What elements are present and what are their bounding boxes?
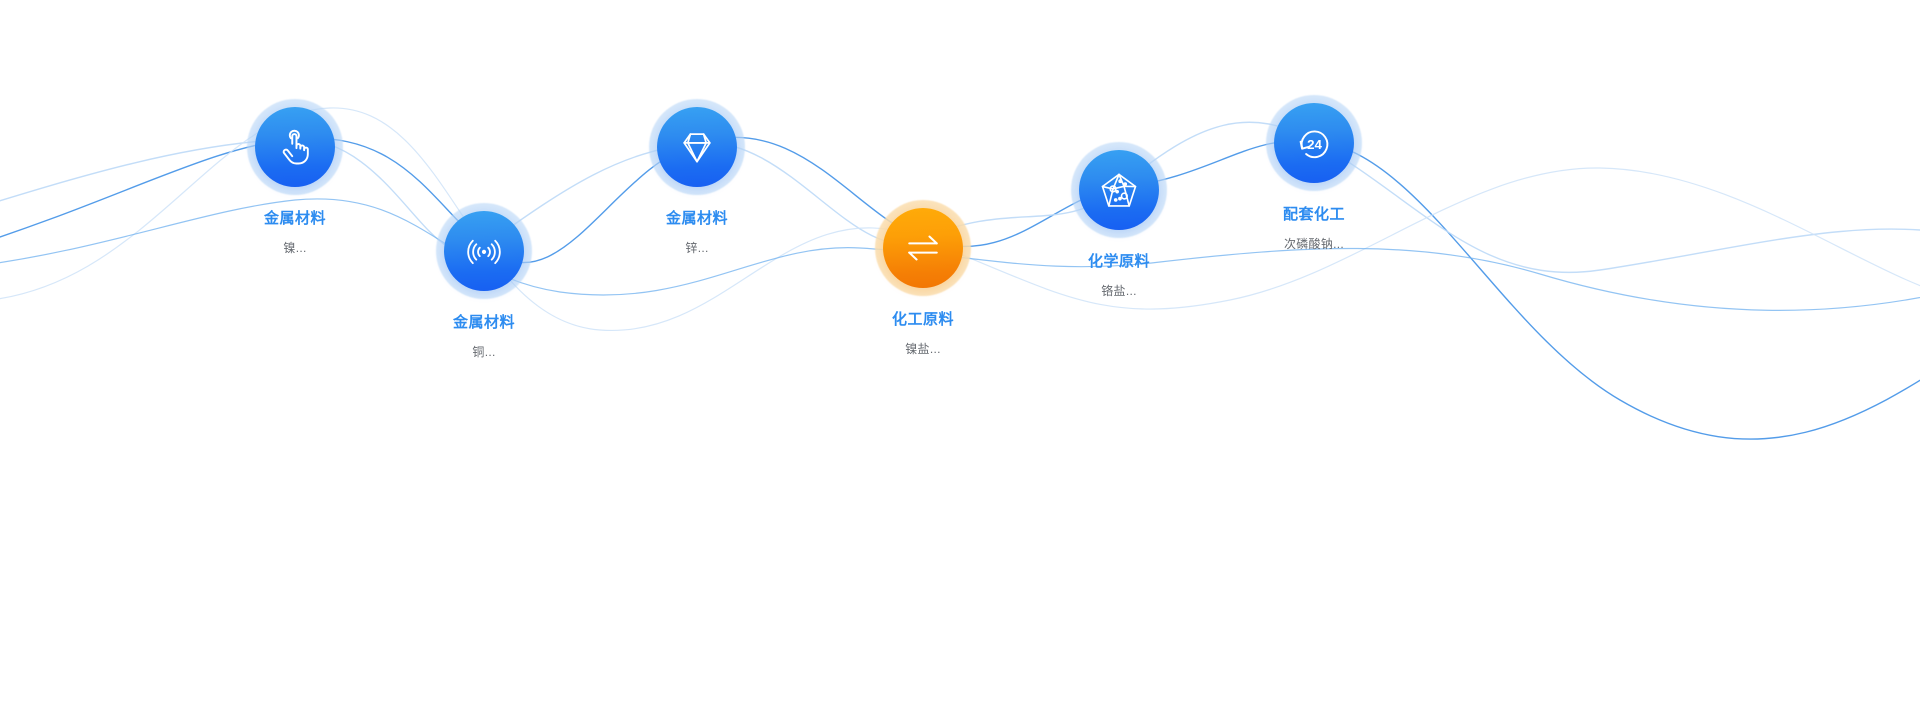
exchange-arrows-icon: [901, 226, 945, 270]
node-subtitle: 铜...: [354, 344, 614, 361]
radar-signal-icon: [462, 229, 506, 273]
node-disc[interactable]: [1079, 150, 1159, 230]
molecule-pentagon-icon: [1097, 168, 1141, 212]
node-disc[interactable]: [883, 208, 963, 288]
node-subtitle: 镍盐...: [793, 341, 1053, 358]
node-disc[interactable]: 24: [1274, 103, 1354, 183]
node-title: 化学原料: [989, 252, 1249, 272]
node-title: 金属材料: [567, 209, 827, 229]
node-disc[interactable]: [255, 107, 335, 187]
node-disc[interactable]: [444, 211, 524, 291]
touch-click-hand-icon: [273, 125, 317, 169]
24-hour-service-icon: 24: [1292, 121, 1336, 165]
node-subtitle: 锌...: [567, 240, 827, 257]
node-badge[interactable]: [875, 200, 971, 296]
node-badge[interactable]: [1071, 142, 1167, 238]
flow-node-metal-zinc[interactable]: 金属材料锌...: [567, 99, 827, 257]
flow-node-support-chemical[interactable]: 24 配套化工次磷酸钠...: [1184, 95, 1444, 253]
node-badge[interactable]: [436, 203, 532, 299]
flow-diagram-canvas: 金属材料镍... 金属材料铜... 金属材料锌... 化工原料镍盐... 化学原…: [0, 0, 1920, 718]
node-title: 金属材料: [354, 313, 614, 333]
node-disc[interactable]: [657, 107, 737, 187]
node-badge[interactable]: 24: [1266, 95, 1362, 191]
node-badge[interactable]: [649, 99, 745, 195]
node-badge[interactable]: [247, 99, 343, 195]
svg-text:24: 24: [1307, 137, 1322, 152]
node-title: 配套化工: [1184, 205, 1444, 225]
diamond-gem-icon: [675, 125, 719, 169]
node-title: 化工原料: [793, 310, 1053, 330]
node-subtitle: 次磷酸钠...: [1184, 236, 1444, 253]
node-subtitle: 铬盐...: [989, 283, 1249, 300]
